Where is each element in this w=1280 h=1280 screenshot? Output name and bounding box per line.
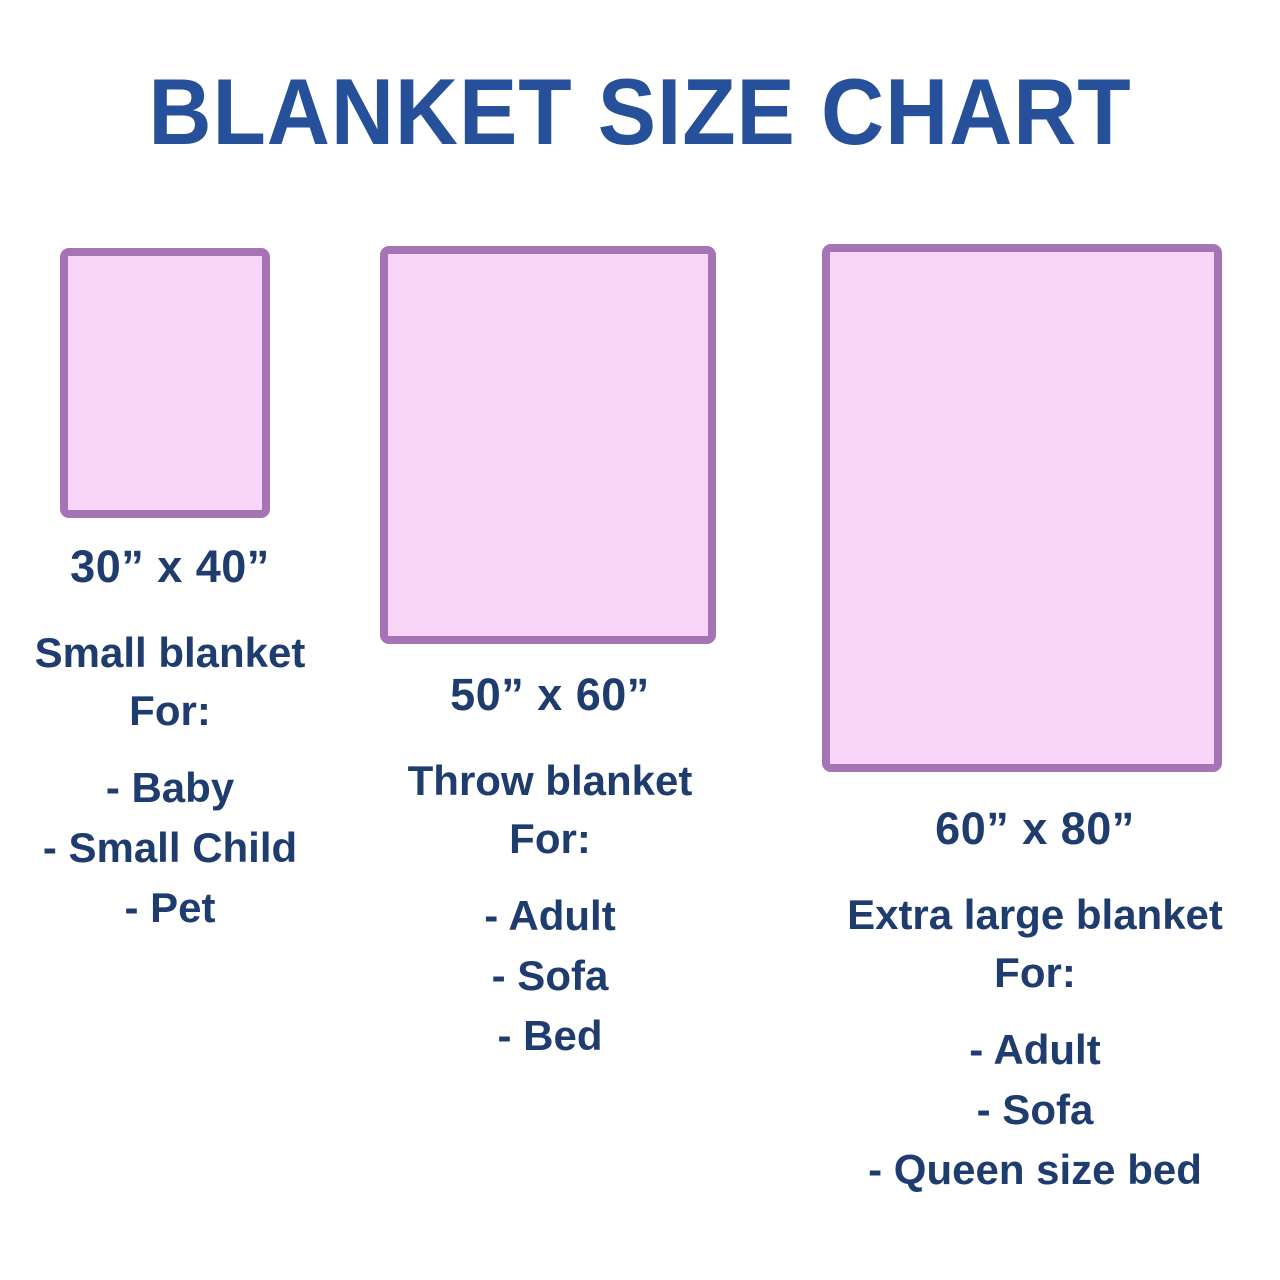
swatch-container-small (0, 248, 340, 518)
list-item: - Bed (360, 1006, 740, 1066)
list-item: - Sofa (360, 946, 740, 1006)
size-details-extra-large: 60” x 80” Extra large blanket For: - Adu… (790, 800, 1280, 1200)
dimension-label: 60” x 80” (790, 800, 1280, 858)
for-label: For: (790, 944, 1280, 1002)
list-item: - Pet (0, 878, 340, 938)
use-list: - Adult - Sofa - Bed (360, 886, 740, 1066)
use-list: - Baby - Small Child - Pet (0, 758, 340, 938)
list-item: - Baby (0, 758, 340, 818)
page-title: BLANKET SIZE CHART (45, 62, 1235, 162)
blanket-swatch-throw (380, 246, 716, 644)
size-details-throw: 50” x 60” Throw blanket For: - Adult - S… (360, 666, 740, 1066)
list-item: - Adult (790, 1020, 1280, 1080)
blanket-swatch-extra-large (822, 244, 1222, 772)
list-item: - Sofa (790, 1080, 1280, 1140)
blanket-name-label: Extra large blanket (790, 886, 1280, 944)
blanket-name-label: Small blanket (0, 624, 340, 682)
list-item: - Adult (360, 886, 740, 946)
list-item: - Small Child (0, 818, 340, 878)
dimension-label: 30” x 40” (0, 538, 340, 596)
list-item: - Queen size bed (790, 1140, 1280, 1200)
for-label: For: (0, 682, 340, 740)
use-list: - Adult - Sofa - Queen size bed (790, 1020, 1280, 1200)
swatch-container-extra-large (790, 244, 1280, 772)
swatch-container-throw (360, 246, 740, 644)
size-details-small: 30” x 40” Small blanket For: - Baby - Sm… (0, 538, 340, 938)
blanket-name-label: Throw blanket (360, 752, 740, 810)
blanket-swatch-small (60, 248, 270, 518)
blanket-size-chart: BLANKET SIZE CHART 30” x 40” Small blank… (0, 0, 1280, 1280)
dimension-label: 50” x 60” (360, 666, 740, 724)
for-label: For: (360, 810, 740, 868)
